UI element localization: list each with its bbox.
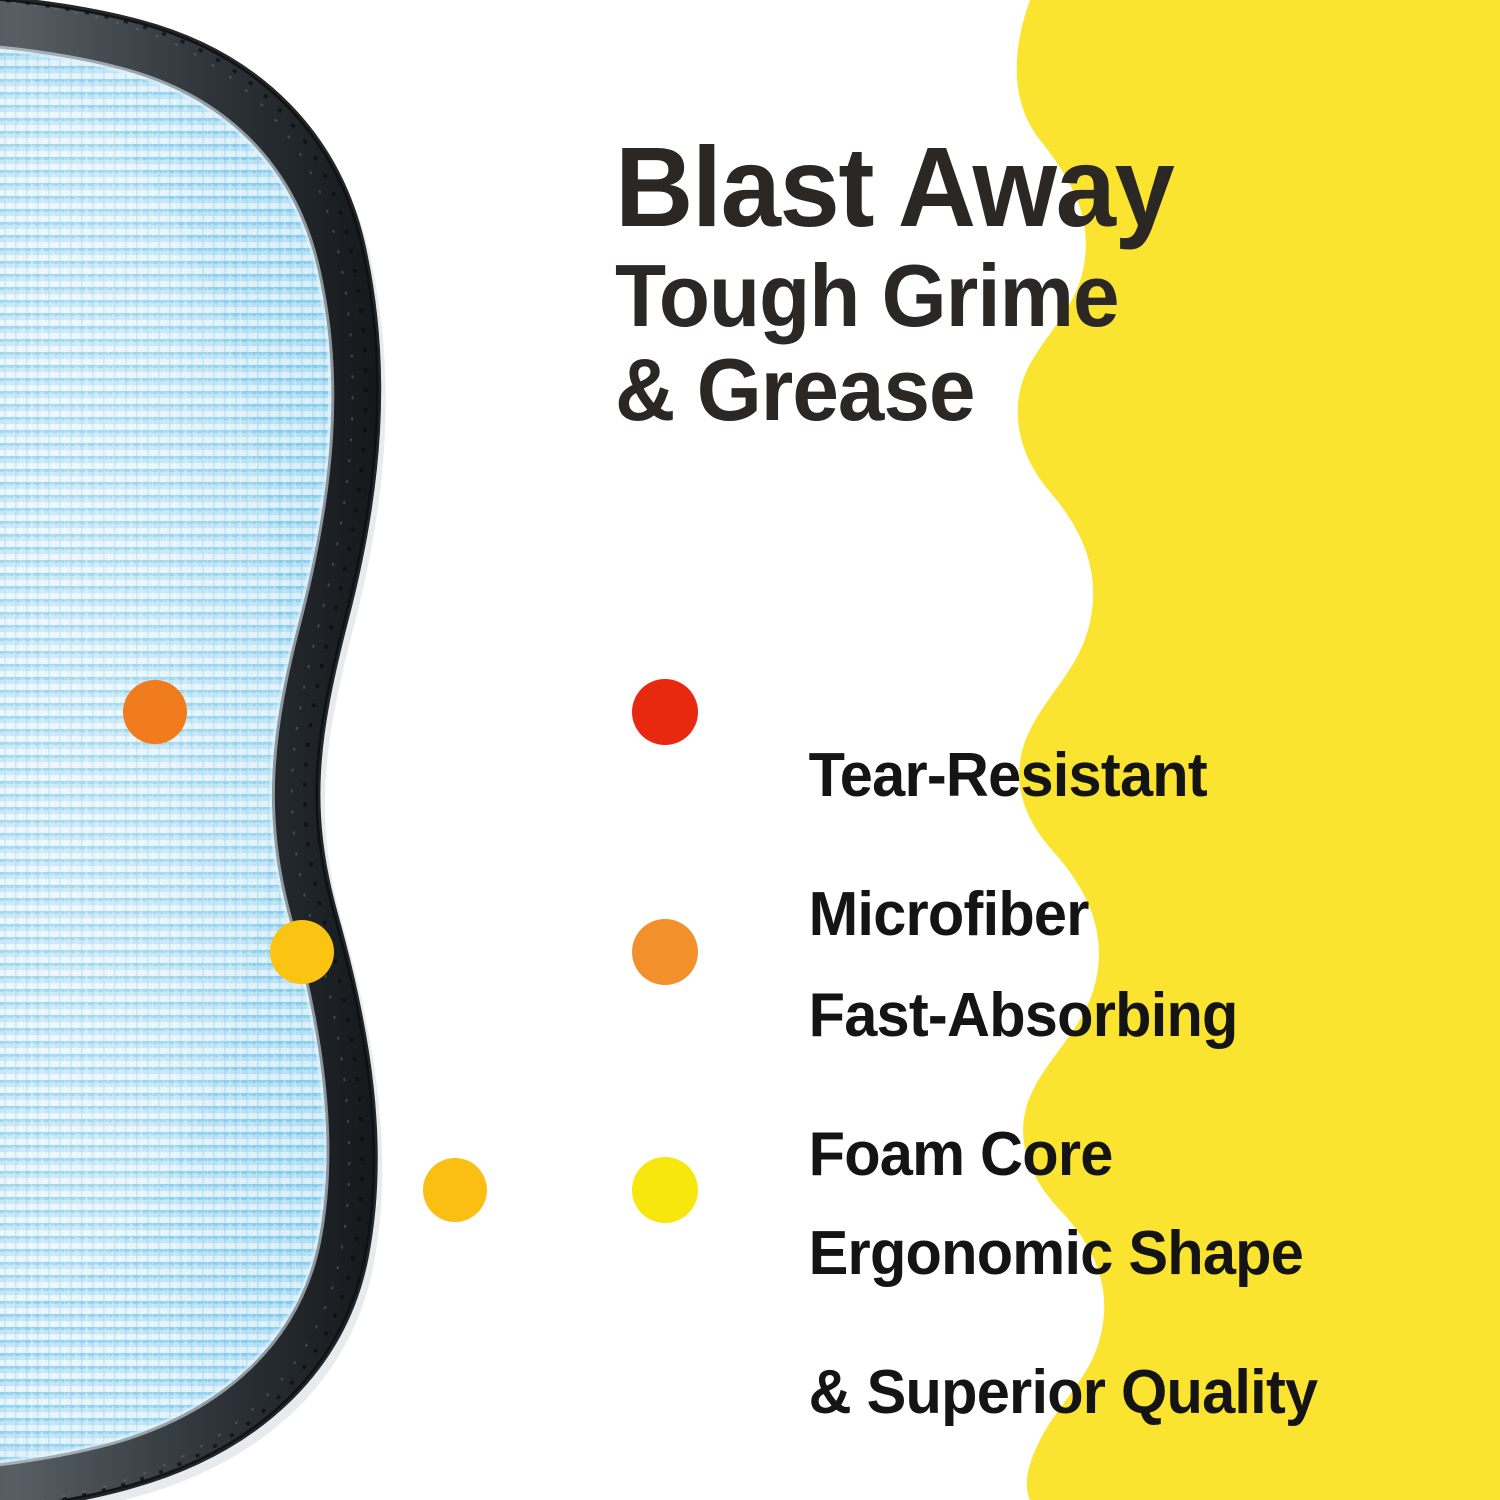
feature-label-2-line-1: Ergonomic Shape xyxy=(809,1219,1303,1288)
anchor-dot-0[interactable] xyxy=(123,680,187,744)
feature-label-2-line-2: & Superior Quality xyxy=(809,1358,1318,1427)
callout-dot-2[interactable] xyxy=(632,1157,698,1223)
callout-connector-1 xyxy=(270,919,698,985)
callout-connector-2 xyxy=(423,1157,698,1223)
anchor-dot-1[interactable] xyxy=(270,920,334,984)
callout-connector-0 xyxy=(123,679,698,745)
headline-line-1: Blast Away xyxy=(615,133,1412,241)
feature-label-0-line-1: Tear-Resistant xyxy=(809,741,1207,810)
headline-line-2: Tough Grime xyxy=(615,249,1404,342)
feature-label-1-line-1: Fast-Absorbing xyxy=(809,981,1238,1050)
feature-label-2: Ergonomic Shape & Superior Quality xyxy=(714,1150,1317,1497)
callout-dot-0[interactable] xyxy=(632,679,698,745)
headline-line-3: & Grease xyxy=(615,343,1404,436)
anchor-dot-2[interactable] xyxy=(423,1158,487,1222)
callout-dot-1[interactable] xyxy=(632,919,698,985)
headline-block: Blast Away Tough Grime & Grease xyxy=(615,133,1445,436)
product-feature-infographic: Blast Away Tough Grime & Grease Tear-Res… xyxy=(0,0,1500,1500)
